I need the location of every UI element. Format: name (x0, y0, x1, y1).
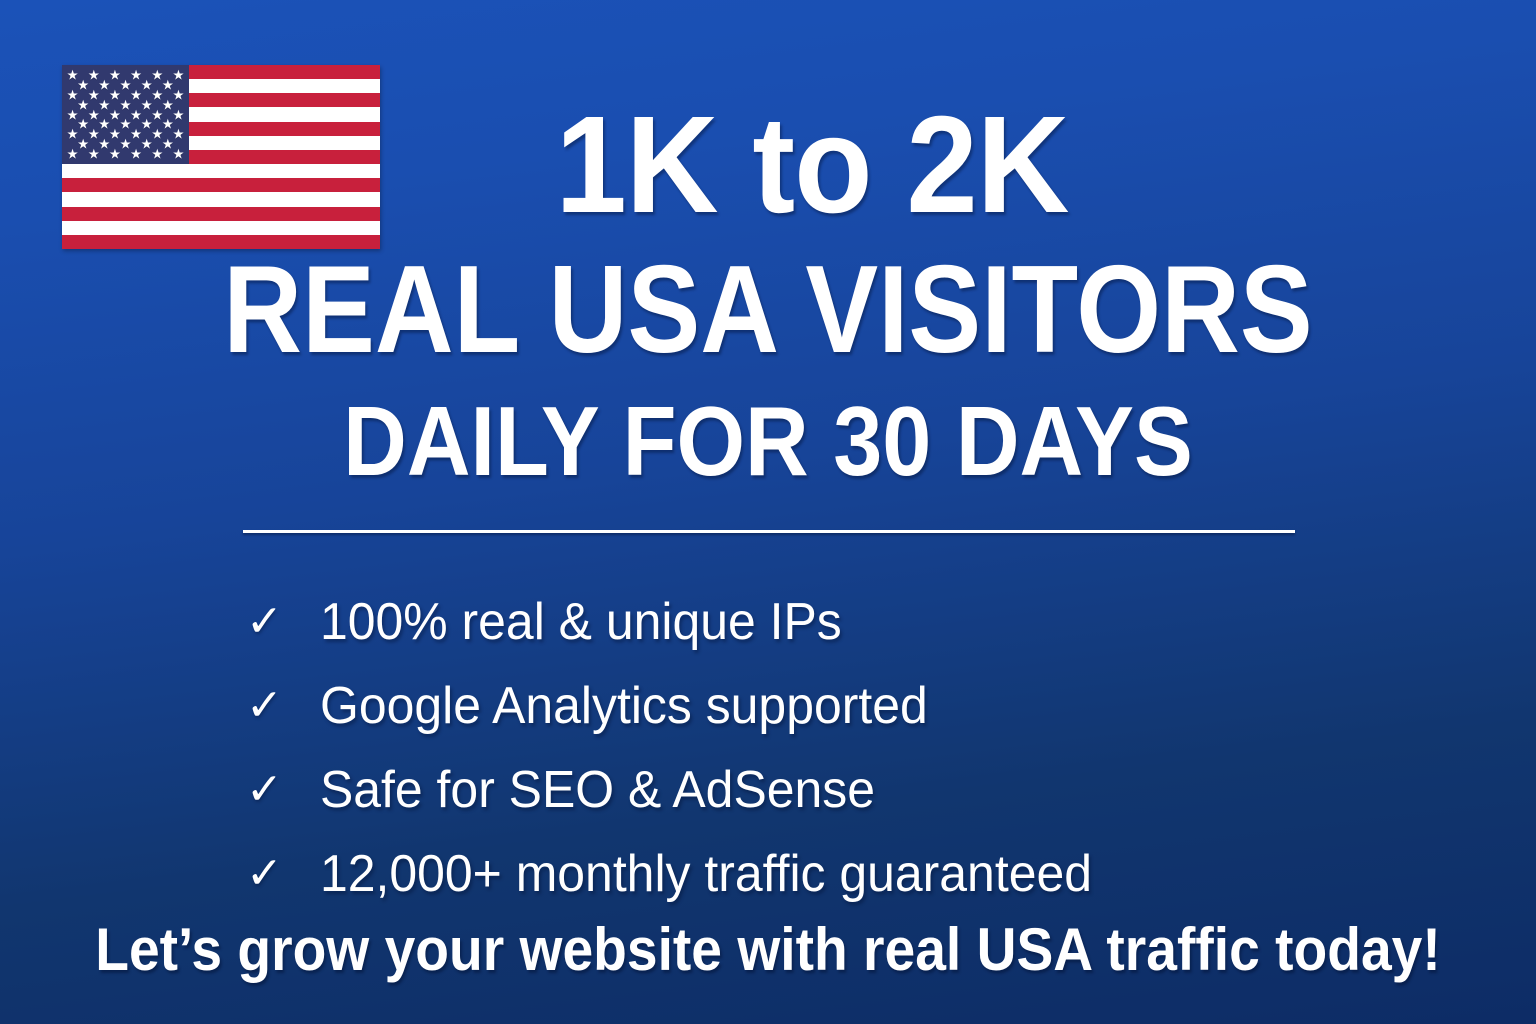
check-icon: ✓ (246, 600, 320, 644)
footer-cta: Let’s grow your website with real USA tr… (61, 916, 1474, 984)
feature-label: Google Analytics supported (320, 677, 928, 735)
divider-rule (243, 530, 1295, 533)
feature-item: ✓Google Analytics supported (246, 664, 1446, 748)
feature-label: Safe for SEO & AdSense (320, 761, 875, 819)
flag-star-icon: ★ (109, 147, 121, 161)
feature-label: 12,000+ monthly traffic guaranteed (320, 845, 1092, 903)
flag-star-icon: ★ (172, 68, 184, 82)
promo-poster: ★★★★★★★★★★★★★★★★★★★★★★★★★★★★★★★★★★★★★★★★… (0, 0, 1536, 1024)
feature-item: ✓12,000+ monthly traffic guaranteed (246, 832, 1446, 916)
headline-line-2: REAL USA VISITORS (92, 248, 1444, 372)
feature-item: ✓Safe for SEO & AdSense (246, 748, 1446, 832)
check-icon: ✓ (246, 852, 320, 896)
flag-star-icon: ★ (67, 147, 79, 161)
feature-item: ✓100% real & unique IPs (246, 580, 1446, 664)
check-icon: ✓ (246, 684, 320, 728)
feature-list: ✓100% real & unique IPs✓Google Analytics… (246, 580, 1446, 916)
feature-label: 100% real & unique IPs (320, 593, 842, 651)
flag-star-icon: ★ (88, 147, 100, 161)
check-icon: ✓ (246, 768, 320, 812)
headline-line-3: DAILY FOR 30 DAYS (77, 392, 1459, 490)
headline-line-1: 1K to 2K (139, 96, 1486, 234)
